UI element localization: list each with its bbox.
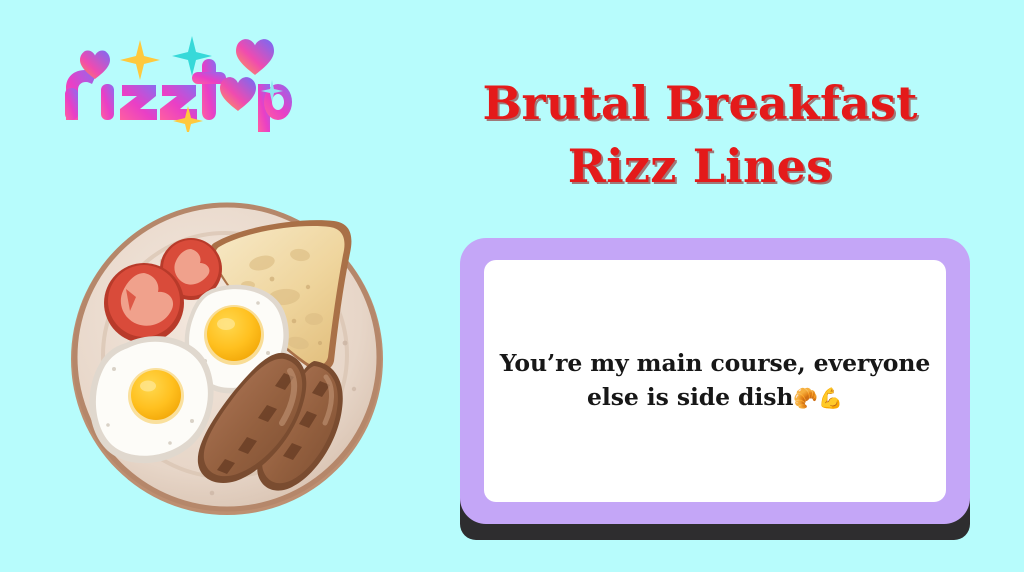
quote-card: You’re my main course, everyone else is … — [458, 238, 972, 543]
page-title: Brutal Breakfast Rizz Lines — [430, 72, 970, 199]
heart-icon — [236, 39, 274, 75]
poster-canvas: Brutal Breakfast Rizz Lines — [0, 0, 1024, 572]
flexed-biceps-emoji: 💪 — [818, 386, 843, 410]
heart-icon — [220, 77, 256, 111]
page-title-line-1: Brutal Breakfast — [430, 72, 970, 135]
tomato-slice — [104, 263, 184, 343]
rizztopic-logo[interactable] — [56, 32, 296, 132]
croissant-emoji: 🥐 — [793, 386, 818, 410]
quote-card-frame: You’re my main course, everyone else is … — [460, 238, 970, 524]
breakfast-plate-illustration — [62, 193, 392, 523]
quote-text: You’re my main course, everyone else is … — [484, 347, 946, 414]
quote-text-body: You’re my main course, everyone else is … — [500, 349, 930, 411]
logo-wordmark-rizz — [65, 70, 197, 120]
sparkle-icon — [120, 40, 160, 80]
quote-card-surface: You’re my main course, everyone else is … — [484, 260, 946, 502]
page-title-line-2: Rizz Lines — [430, 135, 970, 198]
